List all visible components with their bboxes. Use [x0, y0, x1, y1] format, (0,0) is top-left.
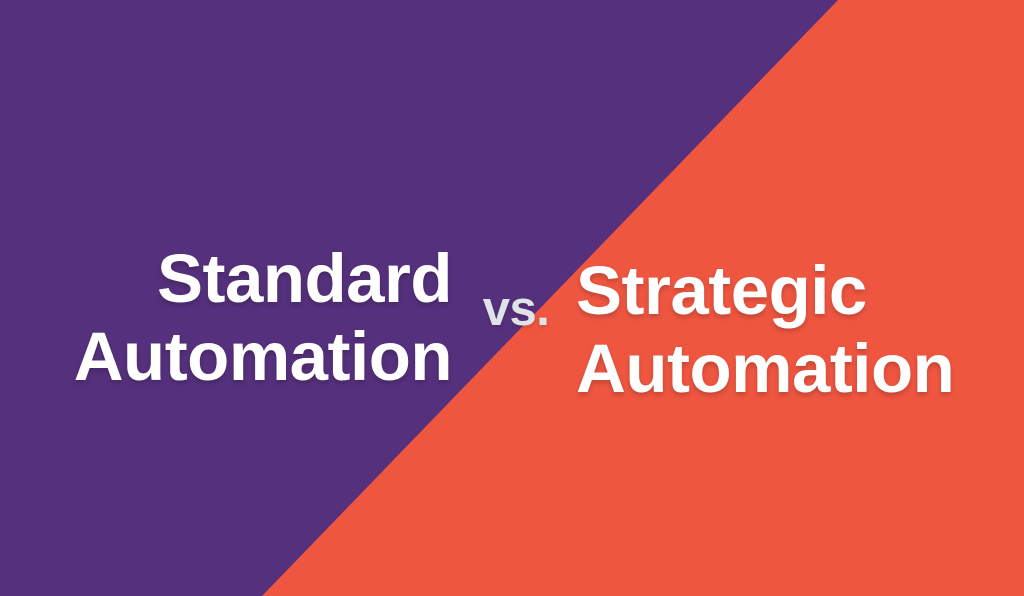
comparison-graphic: Standard Automation vs. Strategic Automa…: [0, 0, 1024, 596]
versus-label: vs.: [466, 283, 566, 335]
right-panel-headline: Strategic Automation: [576, 252, 986, 408]
left-panel-headline: Standard Automation: [40, 240, 452, 396]
